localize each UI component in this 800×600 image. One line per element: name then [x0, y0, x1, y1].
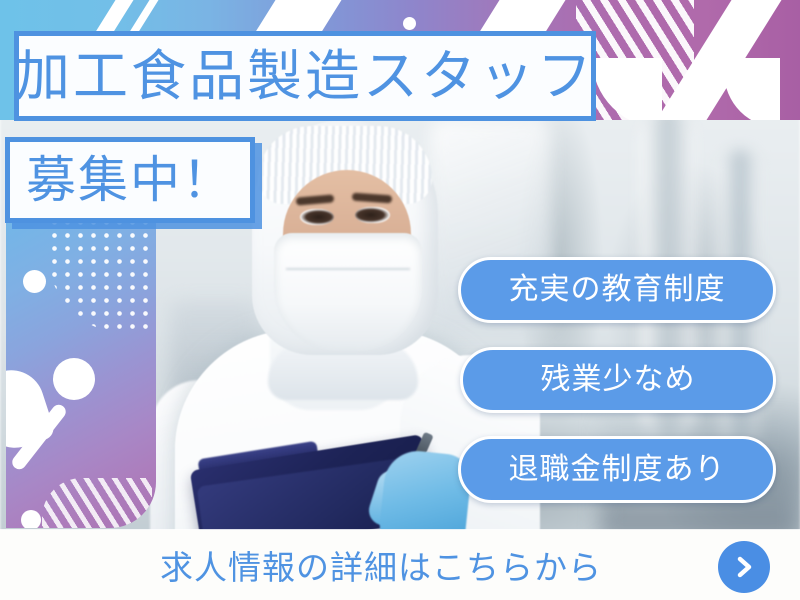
chevron-right-icon[interactable] — [718, 541, 770, 593]
decor-circle — [53, 358, 95, 400]
decor-dot — [403, 17, 416, 30]
cta-bar[interactable]: 求人情報の詳細はこちらから — [0, 530, 800, 600]
feature-badge-label: 充実の教育制度 — [509, 275, 726, 305]
decor-circle — [23, 270, 46, 293]
worker-eye-right — [355, 207, 390, 223]
rounded-corner-shape — [724, 58, 780, 120]
left-decorative-panel — [6, 222, 156, 528]
job-recruitment-banner: 加工食品製造スタッフ 募集中！ 充実の教育制度 残業少なめ 退職金制度あり 求人… — [0, 0, 800, 600]
cta-label: 求人情報の詳細はこちらから — [160, 530, 602, 600]
page-title: 加工食品製造スタッフ — [15, 49, 595, 104]
subtitle-text: 募集中！ — [26, 155, 234, 205]
feature-badge-education[interactable]: 充実の教育制度 — [458, 257, 776, 323]
feature-badge-retirement[interactable]: 退職金制度あり — [458, 436, 776, 503]
decor-circle — [21, 510, 41, 528]
feature-badge-label: 退職金制度あり — [509, 455, 726, 485]
worker-mask-fold — [286, 268, 410, 270]
decor-hatch-corner — [42, 478, 152, 528]
feature-badge-overtime[interactable]: 残業少なめ — [460, 347, 776, 413]
worker-eye-left — [300, 209, 334, 225]
subtitle-box: 募集中！ — [5, 137, 255, 223]
worker-face-mask — [274, 233, 422, 351]
feature-badge-label: 残業少なめ — [541, 365, 696, 395]
dot-grid-pattern — [48, 222, 156, 334]
main-title-box: 加工食品製造スタッフ — [14, 31, 596, 121]
